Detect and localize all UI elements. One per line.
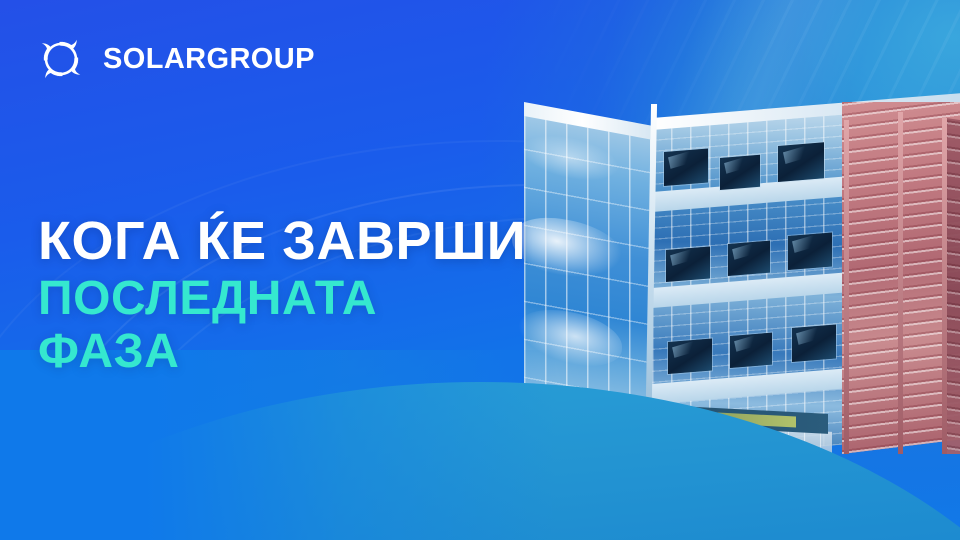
brand-name: SOLARGROUP (103, 45, 315, 74)
solar-swirl-logo-icon (32, 30, 90, 88)
red-louvred-screen (842, 102, 960, 454)
promo-banner: SOLARGROUP КОГА ЌЕ ЗАВРШИ ПОСЛЕДНАТА ФАЗ… (0, 0, 960, 540)
louvre-screen-post (898, 112, 903, 454)
building-open-window (788, 232, 832, 270)
louvre-screen-post (942, 118, 947, 454)
headline-block: КОГА ЌЕ ЗАВРШИ ПОСЛЕДНАТА ФАЗА (38, 214, 558, 377)
building-open-window (666, 246, 710, 282)
building-open-window (720, 155, 760, 190)
building-open-window (664, 148, 708, 186)
headline-line-1: КОГА ЌЕ ЗАВРШИ (38, 214, 558, 269)
headline-line-2: ПОСЛЕДНАТА (38, 275, 558, 324)
louvre-screen-side (946, 118, 960, 454)
louvre-screen-post (844, 120, 849, 454)
building-open-window (792, 324, 836, 362)
bottom-arc-left-fade (0, 350, 557, 540)
building-open-window (728, 241, 770, 276)
brand-logo[interactable]: SOLARGROUP (32, 30, 315, 88)
headline-line-3: ФАЗА (38, 328, 558, 377)
building-open-window (668, 338, 712, 374)
building-open-window (730, 333, 772, 368)
building-open-window (778, 142, 824, 182)
